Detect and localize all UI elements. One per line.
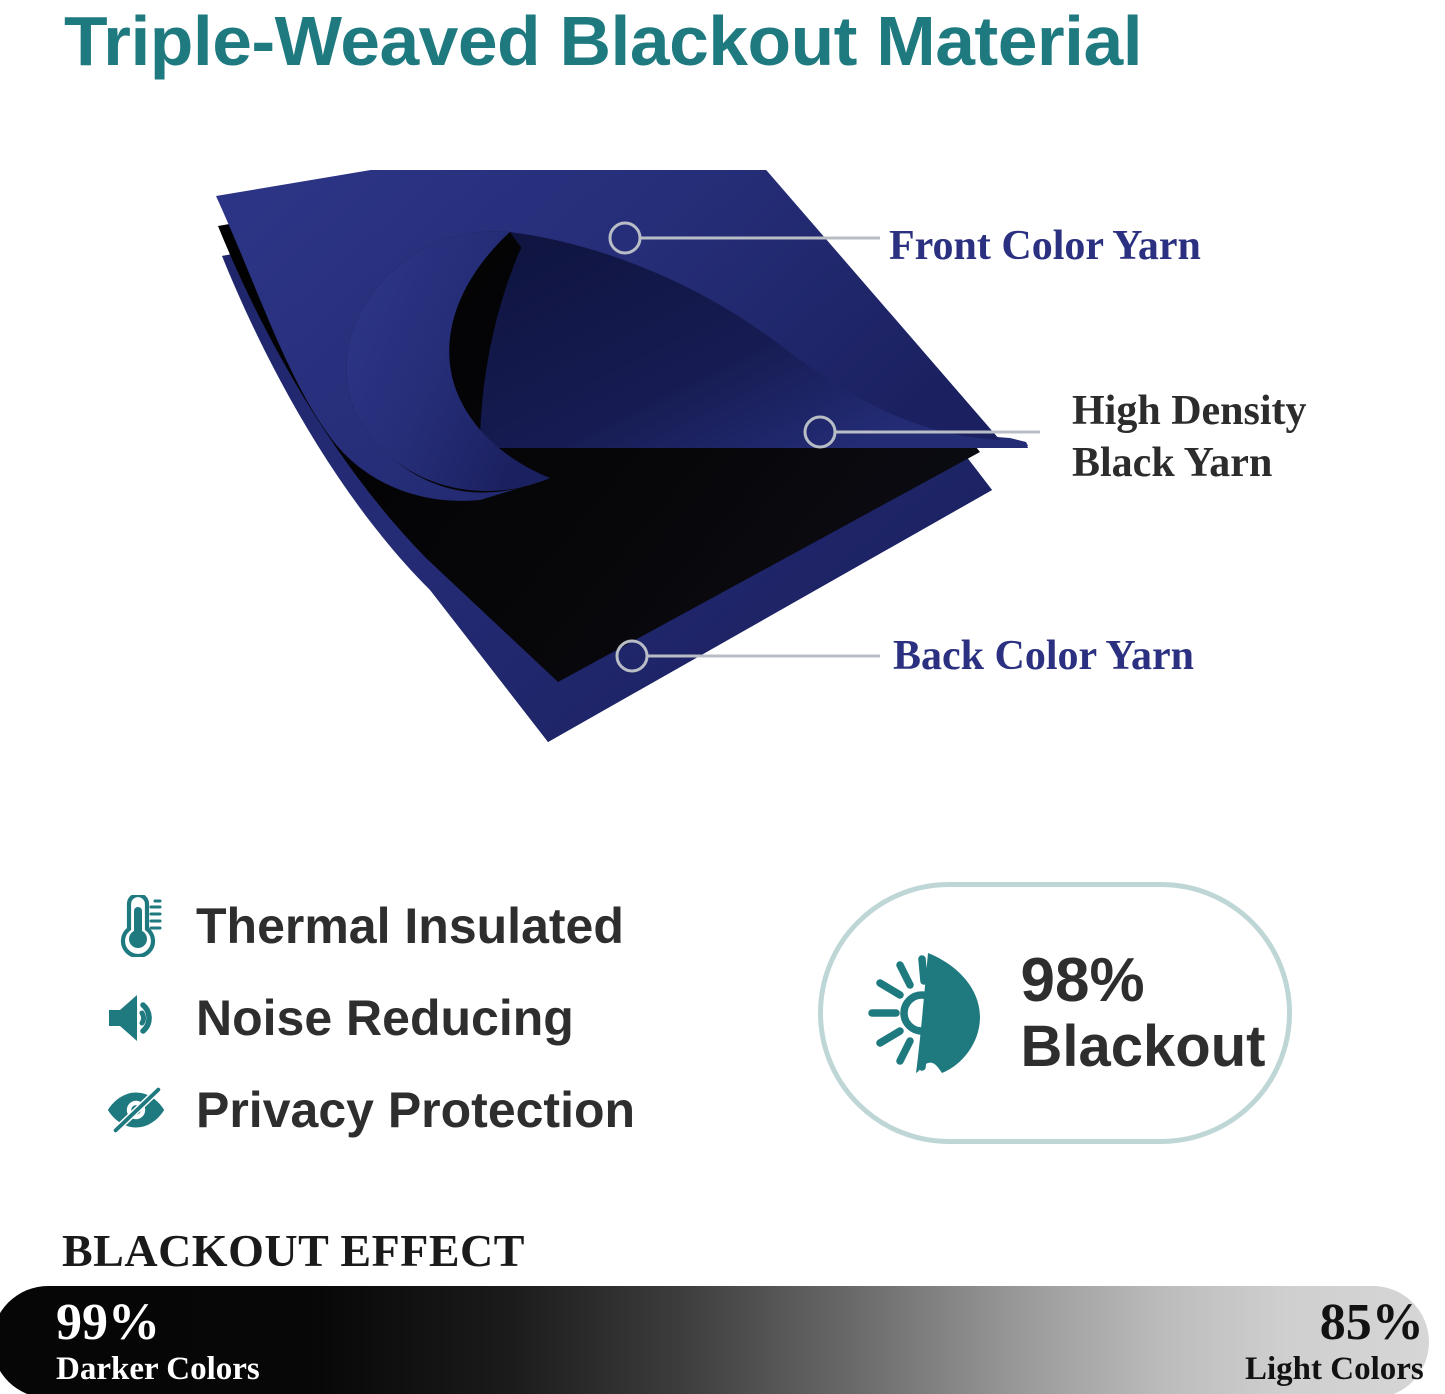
callout-label-front-color-yarn: Front Color Yarn [889, 222, 1201, 270]
badge-text-group: 98% Blackout [1021, 947, 1266, 1079]
badge-label-blackout: Blackout [1021, 1015, 1266, 1079]
gradient-bar-right-percent: 85% [1320, 1296, 1424, 1350]
page-title: Triple-Weaved Blackout Material [64, 2, 1431, 80]
gradient-bar-left-percent: 99% [56, 1296, 160, 1350]
feature-item-noise-reducing: Noise Reducing [104, 972, 764, 1064]
gradient-bar-right-stat: 85% Light Colors [1245, 1286, 1424, 1394]
gradient-bar-left-sublabel: Darker Colors [56, 1350, 260, 1388]
callout-label-high-density-black-yarn: High Density Black Yarn [1072, 385, 1372, 489]
thermometer-icon [104, 894, 168, 958]
gradient-bar-right-sublabel: Light Colors [1245, 1350, 1424, 1388]
callout-label-back-color-yarn: Back Color Yarn [893, 632, 1194, 680]
eye-slash-icon [104, 1078, 168, 1142]
status-badge-blackout: 98% Blackout [818, 882, 1292, 1144]
infographic-page: Triple-Weaved Blackout Material [0, 0, 1445, 1394]
feature-label-privacy-protection: Privacy Protection [196, 1082, 635, 1138]
gradient-bar-left-stat: 99% Darker Colors [56, 1286, 260, 1394]
blackout-effect-heading: BLACKOUT EFFECT [62, 1225, 525, 1277]
feature-label-noise-reducing: Noise Reducing [196, 990, 574, 1046]
feature-item-privacy-protection: Privacy Protection [104, 1064, 764, 1156]
sun-blocked-icon [845, 938, 995, 1088]
badge-percent-value: 98% [1021, 947, 1145, 1015]
feature-item-thermal-insulated: Thermal Insulated [104, 880, 764, 972]
speaker-volume-icon [104, 986, 168, 1050]
feature-list: Thermal Insulated Noise Reducing [104, 880, 764, 1156]
feature-label-thermal-insulated: Thermal Insulated [196, 898, 624, 954]
